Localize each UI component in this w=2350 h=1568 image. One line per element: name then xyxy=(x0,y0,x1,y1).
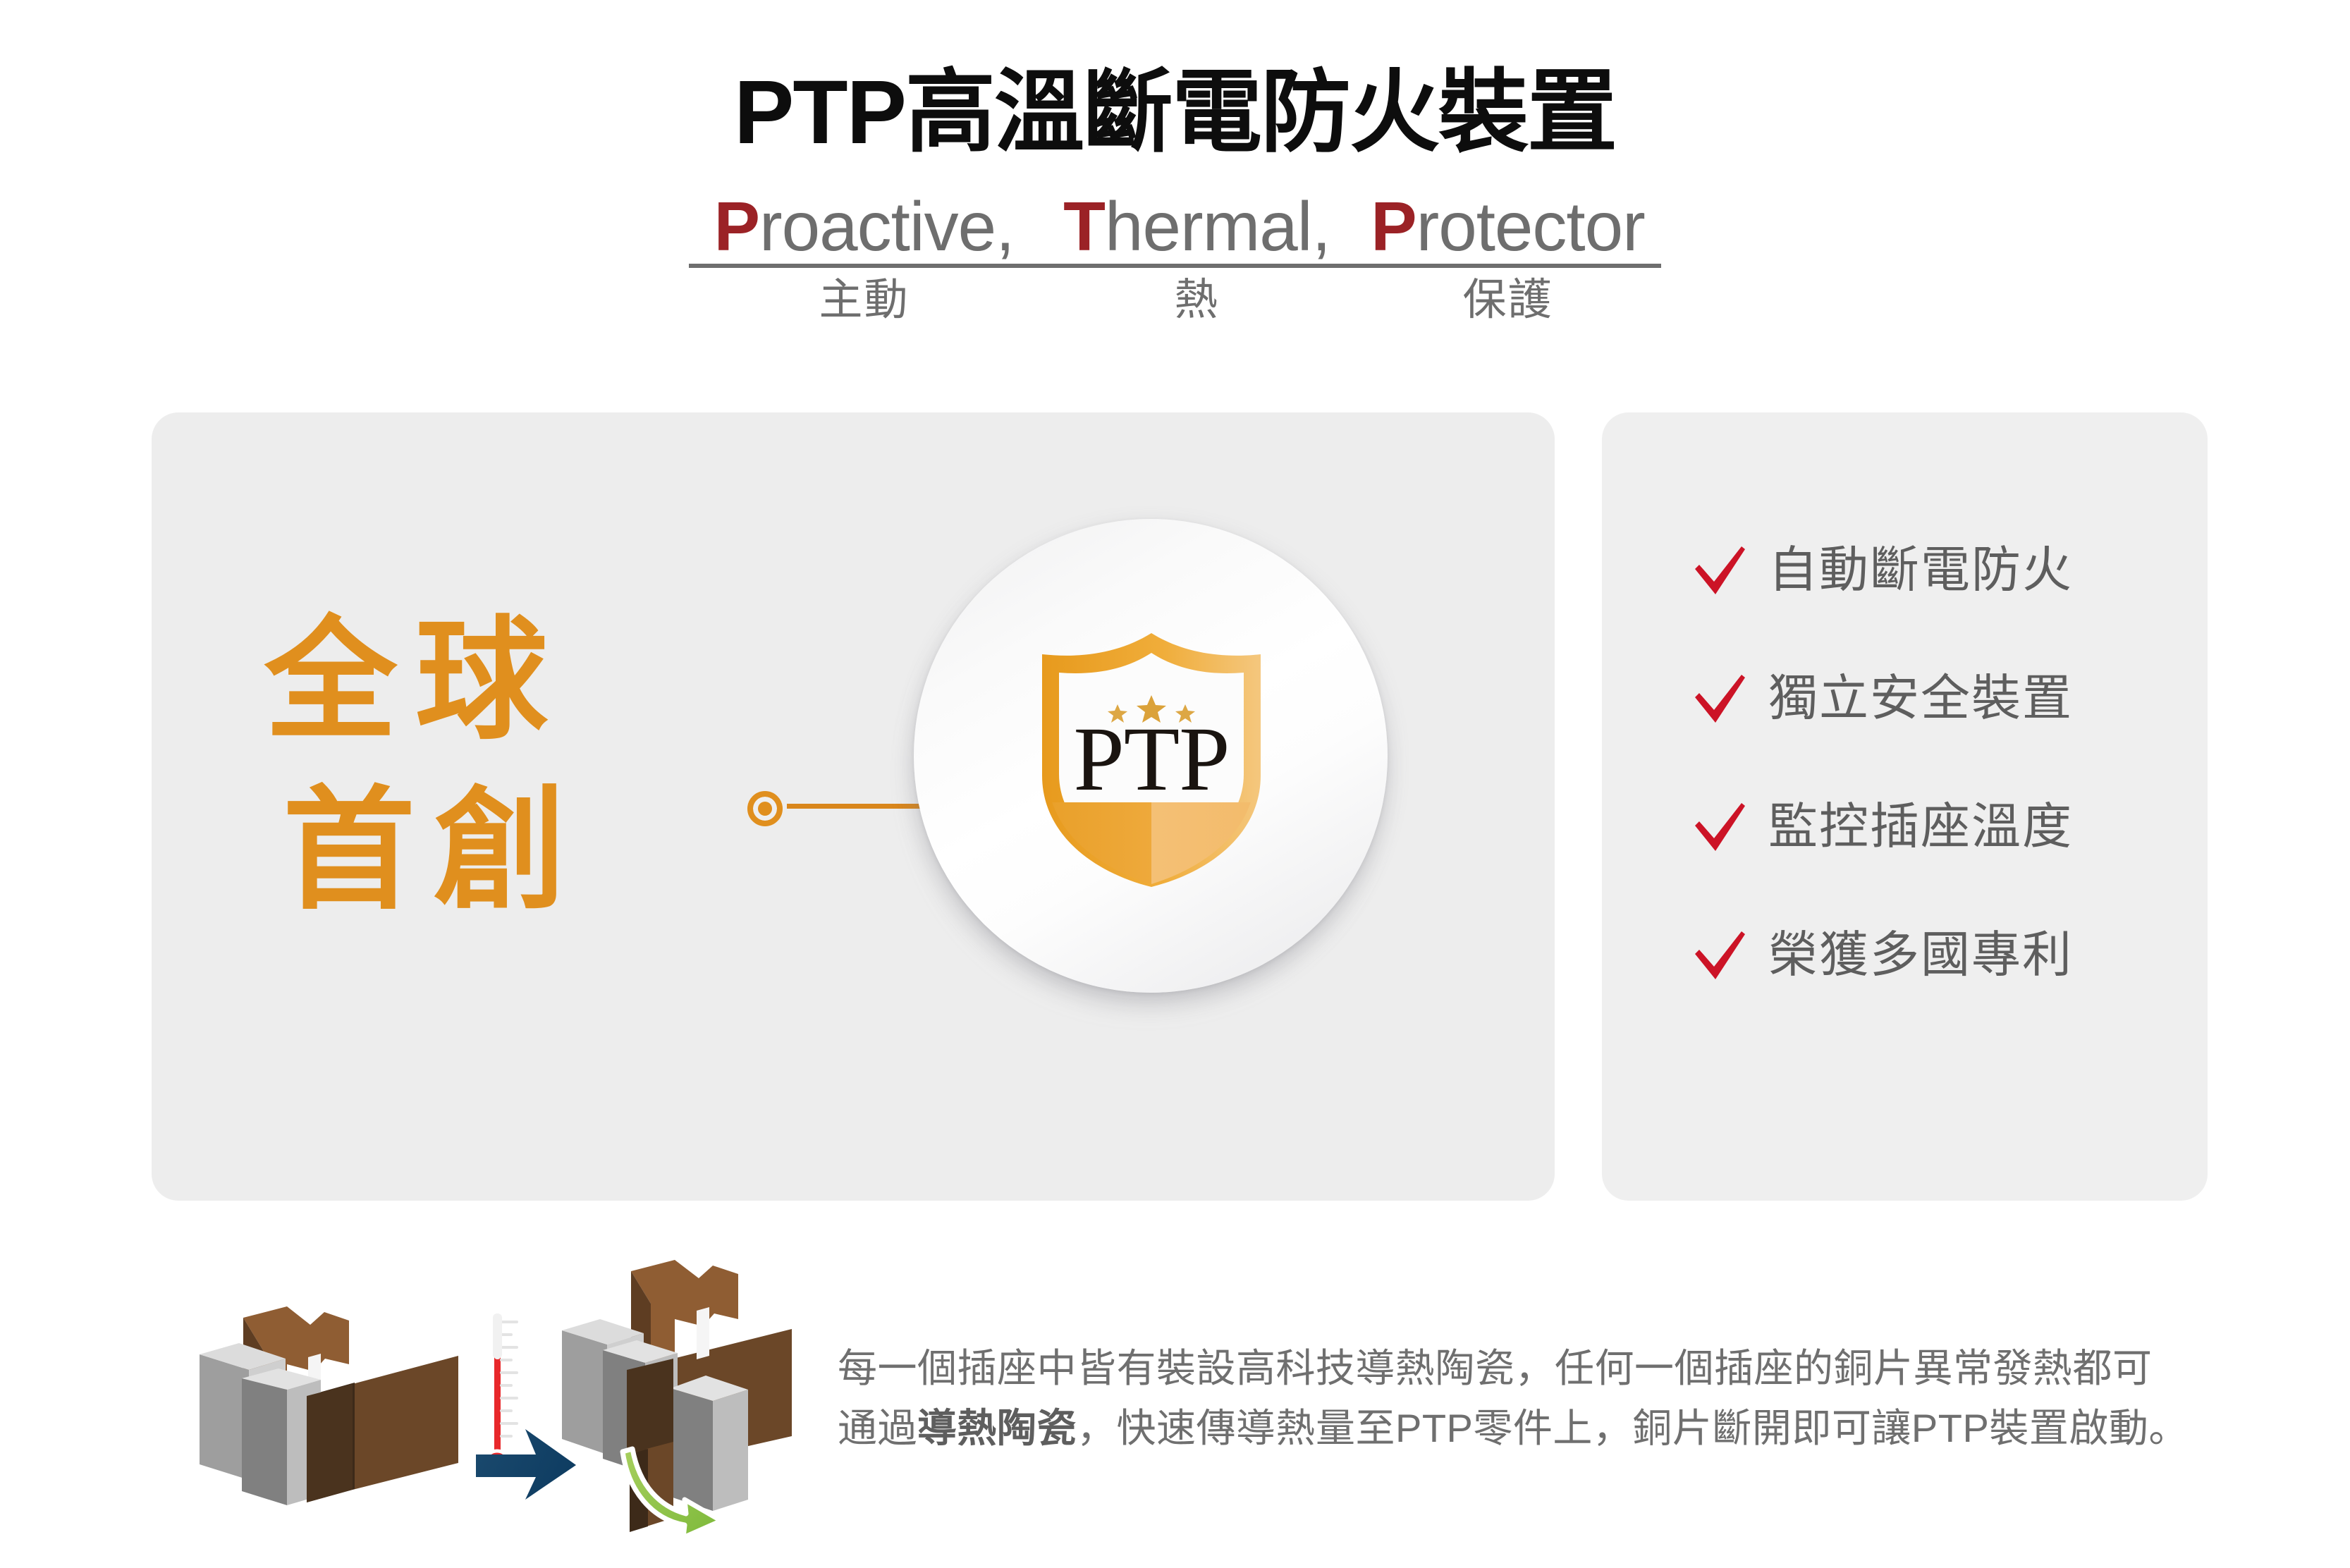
acronym-underline-2 xyxy=(1039,264,1354,268)
acronym-word-proactive: Proactive, xyxy=(714,192,1015,261)
check-icon xyxy=(1692,800,1747,855)
check-icon xyxy=(1692,544,1747,599)
description-line-2: 通過導熱陶瓷，快速傳導熱量至PTP零件上，銅片斷開即可讓PTP裝置啟動。 xyxy=(838,1398,2202,1458)
feature-item-temperature-monitor: 監控插座溫度 xyxy=(1602,792,2208,860)
feature-item-auto-cutoff: 自動斷電防火 xyxy=(1602,536,2208,604)
socket-normal-state xyxy=(200,1306,458,1505)
connector-dot-icon xyxy=(747,791,783,826)
thermometer-icon xyxy=(485,1313,517,1475)
acronym-capital-p2: P xyxy=(1371,188,1416,265)
feature-list: 自動斷電防火 獨立安全裝置 監控插座溫度 榮獲多國專利 xyxy=(1602,536,2208,988)
shield-wordmark: PTP xyxy=(1073,709,1229,810)
feature-item-independent-safety: 獨立安全裝置 xyxy=(1602,664,2208,732)
acronym-rest-roactive: roactive xyxy=(759,188,996,265)
acronym-comma-2: , xyxy=(1312,188,1330,265)
check-icon xyxy=(1692,929,1747,984)
page-title: PTP高溫斷電防火裝置 xyxy=(0,68,2350,158)
acronym-underline-1 xyxy=(689,264,1039,268)
feature-label: 榮獲多國專利 xyxy=(1768,930,2073,979)
acronym-rest-rotector: rotector xyxy=(1416,188,1645,265)
description-line-1: 每一個插座中皆有裝設高科技導熱陶瓷，任何一個插座的銅片異常發熱都可 xyxy=(838,1338,2202,1398)
acronym-underline-3 xyxy=(1354,264,1661,268)
acronym-group-thermal: Thermal, 熱 xyxy=(1039,192,1354,324)
description-line-2-prefix: 通過 xyxy=(838,1406,917,1450)
subtitle-acronym-row: Proactive, 主動 Thermal, 熱 Protector 保護 xyxy=(0,192,2350,324)
description-line-2-emphasis: 導熱陶瓷 xyxy=(917,1406,1077,1450)
acronym-translation-proactive: 主動 xyxy=(819,276,909,324)
acronym-rest-hermal: hermal xyxy=(1105,188,1312,265)
socket-triggered-state xyxy=(562,1260,792,1532)
description-line-2-suffix: ，快速傳導熱量至PTP零件上，銅片斷開即可讓PTP裝置啟動。 xyxy=(1077,1406,2189,1450)
feature-label: 監控插座溫度 xyxy=(1768,802,2073,851)
acronym-group-proactive: Proactive, 主動 xyxy=(689,192,1039,324)
acronym-translation-thermal: 熱 xyxy=(1174,276,1219,324)
headline-line-2: 首創 xyxy=(264,766,702,936)
feature-label: 獨立安全裝置 xyxy=(1768,673,2073,723)
acronym-comma-1: , xyxy=(996,188,1014,265)
headline-line-1: 全球 xyxy=(264,596,702,766)
check-icon xyxy=(1692,672,1747,727)
connector-indicator xyxy=(747,784,910,833)
blue-right-arrow-icon xyxy=(476,1429,576,1500)
acronym-capital-p: P xyxy=(714,188,759,265)
socket-copper-strip-diagram xyxy=(180,1251,818,1537)
acronym-group-protector: Protector 保護 xyxy=(1354,192,1661,324)
logo-disc: PTP xyxy=(894,509,1409,1031)
page-header: PTP高溫斷電防火裝置 Proactive, 主動 Thermal, 熱 Pro… xyxy=(0,0,2350,353)
acronym-translation-protector: 保護 xyxy=(1462,276,1553,324)
feature-label: 自動斷電防火 xyxy=(1768,545,2073,594)
acronym-word-protector: Protector xyxy=(1371,192,1645,261)
acronym-word-thermal: Thermal, xyxy=(1063,192,1330,261)
feature-item-patents: 榮獲多國專利 xyxy=(1602,921,2208,988)
description-paragraph: 每一個插座中皆有裝設高科技導熱陶瓷，任何一個插座的銅片異常發熱都可 通過導熱陶瓷… xyxy=(838,1338,2202,1458)
ptp-shield-logo: PTP xyxy=(1035,633,1268,887)
global-first-headline: 全球 首創 xyxy=(264,596,702,935)
acronym-capital-t: T xyxy=(1063,188,1105,265)
